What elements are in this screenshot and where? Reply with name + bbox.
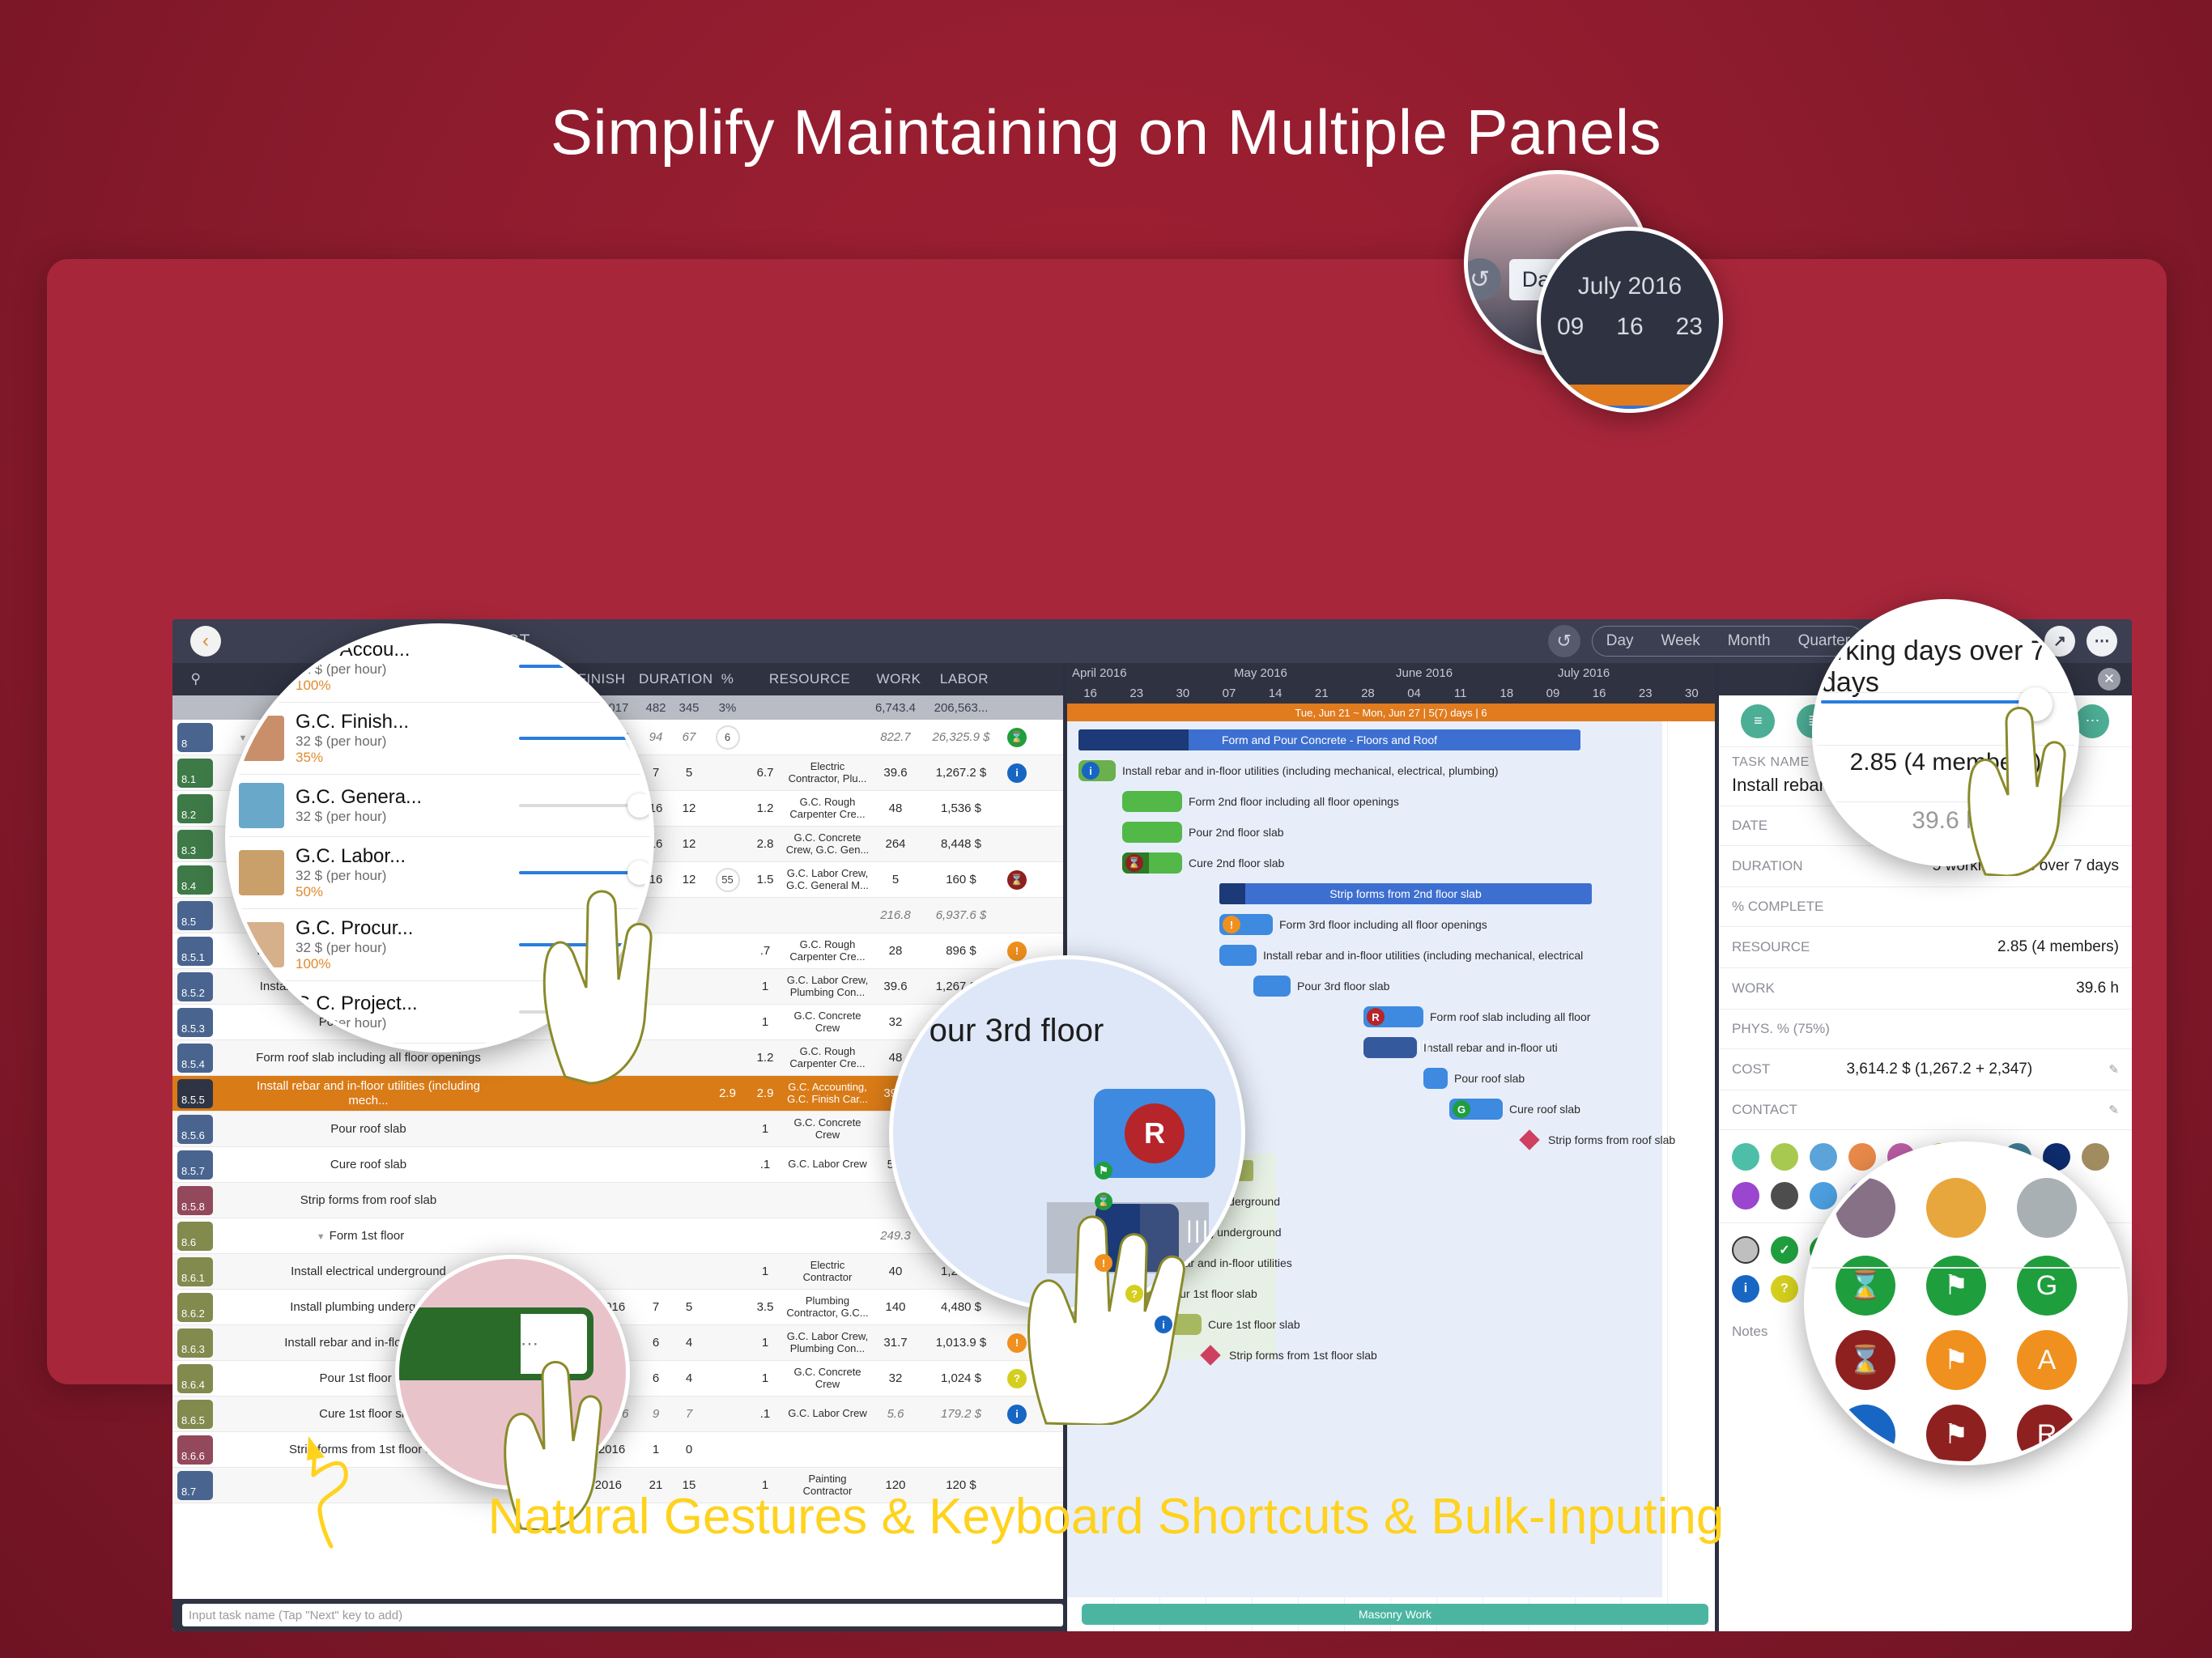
row-id-cell: 8.6.3 bbox=[172, 1329, 219, 1358]
row-resource[interactable]: G.C. Concrete Crew bbox=[781, 1010, 870, 1035]
avatar bbox=[239, 922, 284, 967]
letter-r-icon[interactable]: R bbox=[2017, 1405, 2077, 1465]
new-task-input[interactable]: Input task name (Tap "Next" key to add) bbox=[182, 1604, 1063, 1626]
exclaim-icon[interactable]: ! bbox=[1223, 916, 1240, 933]
resource-name: G.C. Genera... bbox=[296, 786, 422, 809]
resource-rate: 32 $ (per hour) bbox=[296, 940, 413, 956]
gantt-bar-row[interactable]: Strip forms from 2nd floor slab bbox=[1219, 882, 1592, 906]
gantt-bar[interactable]: ! bbox=[1219, 914, 1273, 935]
gantt-bar-row[interactable]: Pour roof slab bbox=[1423, 1066, 1525, 1090]
gantt-day-label: 14 bbox=[1253, 687, 1299, 700]
gantt-day-label: 23 bbox=[1623, 687, 1669, 700]
gantt-bar-row[interactable]: Strip forms from roof slab bbox=[1522, 1128, 1675, 1152]
resource-rate: 32 $ (per hour) bbox=[296, 661, 410, 678]
row-duration[interactable]: 7 bbox=[639, 1300, 673, 1314]
detail-field-label: % COMPLETE bbox=[1732, 899, 1823, 915]
resource-name: G.C. Project... bbox=[296, 993, 418, 1015]
question-icon[interactable]: ? bbox=[1007, 1369, 1027, 1388]
info-icon[interactable]: i bbox=[1732, 1275, 1759, 1303]
gantt-day-label: 09 bbox=[1529, 687, 1576, 700]
row-duration[interactable]: 6 bbox=[639, 1336, 673, 1350]
resource-percent: 100% bbox=[296, 678, 410, 694]
gantt-day-label: 16 bbox=[1576, 687, 1623, 700]
gantt-day-label: 04 bbox=[1391, 687, 1437, 700]
detail-field-label: DURATION bbox=[1732, 858, 1803, 874]
row-resource[interactable]: G.C. Labor Crew, Plumbing Con... bbox=[781, 975, 870, 999]
color-swatch[interactable] bbox=[1771, 1182, 1798, 1209]
detail-field-value[interactable]: 2.85 (4 members) bbox=[1997, 938, 2119, 956]
edit-pencil-icon[interactable]: ✎ bbox=[2108, 1062, 2119, 1077]
row-duration[interactable]: 9 bbox=[639, 1407, 673, 1421]
gantt-bar-label: Pour roof slab bbox=[1454, 1072, 1525, 1085]
col-resource[interactable]: RESOURCE bbox=[750, 671, 870, 687]
color-swatch[interactable] bbox=[1771, 1143, 1798, 1171]
slider-thumb[interactable] bbox=[627, 933, 652, 957]
gantt-month-label: May 2016 bbox=[1229, 666, 1391, 680]
gantt-bar-row[interactable]: Form 2nd floor including all floor openi… bbox=[1122, 789, 1399, 814]
resource-percent: 100% bbox=[296, 956, 413, 972]
gantt-bar[interactable]: G bbox=[1449, 1099, 1503, 1120]
swatch-amber[interactable] bbox=[1926, 1178, 1986, 1238]
gantt-bar-row[interactable]: Form and Pour Concrete - Floors and Roof bbox=[1078, 728, 1580, 752]
lens-resource-value: 2.85 (4 members) bbox=[1816, 749, 2075, 776]
slider-thumb[interactable] bbox=[627, 654, 652, 678]
gantt-bar[interactable] bbox=[1253, 976, 1291, 997]
gantt-month-label: July 2016 bbox=[1553, 666, 1715, 680]
gantt-selection-info: Tue, Jun 21 ~ Mon, Jun 27 | 5(7) days | … bbox=[1067, 704, 1715, 721]
row-resource-units[interactable]: 1 bbox=[750, 1336, 781, 1350]
empty-circle-icon[interactable] bbox=[1732, 1236, 1759, 1264]
resource-name: G.C. Accou... bbox=[296, 639, 410, 661]
row-wbs-badge: 8.1 bbox=[177, 759, 213, 788]
resource-rate: 32 $ (per hour) bbox=[296, 1015, 418, 1031]
undo-icon: ↺ bbox=[1557, 631, 1572, 652]
row-wbs-badge: 8.6.2 bbox=[177, 1293, 213, 1322]
milestone-icon[interactable] bbox=[1519, 1129, 1539, 1150]
row-labor[interactable]: 896 $ bbox=[928, 944, 1001, 958]
row-status-cell[interactable]: ? bbox=[1001, 1369, 1033, 1388]
flag-red-icon[interactable]: ⚑ bbox=[1926, 1405, 1986, 1465]
gantt-bar-label: Cure 1st floor slab bbox=[1208, 1318, 1300, 1331]
row-wbs-badge: 8.5.1 bbox=[177, 937, 213, 966]
row-resource-units[interactable]: 1 bbox=[750, 980, 781, 993]
row-duration2[interactable]: 12 bbox=[673, 801, 705, 815]
row-wbs-badge: 8 bbox=[177, 723, 213, 752]
gantt-day-label: 30 bbox=[1669, 687, 1715, 700]
gantt-bar[interactable]: i bbox=[1151, 1314, 1202, 1335]
row-resource[interactable]: Electric Contractor, Plu... bbox=[781, 761, 870, 785]
color-swatch[interactable] bbox=[1732, 1182, 1759, 1209]
question-icon[interactable]: ? bbox=[1125, 1285, 1143, 1303]
row-work[interactable]: 28 bbox=[870, 944, 928, 958]
hourglass-green-icon[interactable]: ⌛ bbox=[1836, 1256, 1895, 1316]
row-wbs-badge: 8.6.6 bbox=[177, 1435, 213, 1465]
exclaim-icon[interactable]: ! bbox=[1007, 942, 1027, 961]
lens-calendar: July 2016 09 16 23 bbox=[1537, 227, 1723, 413]
gantt-bar-row[interactable]: Pour 2nd floor slab bbox=[1122, 820, 1284, 844]
gantt-bar-row[interactable]: Pour 3rd floor slab bbox=[1253, 974, 1389, 998]
letter-G-icon[interactable]: G bbox=[1453, 1100, 1470, 1118]
col-work[interactable]: WORK bbox=[870, 671, 928, 687]
gantt-bar[interactable] bbox=[1423, 1068, 1448, 1089]
row-status-cell[interactable]: ⌛ bbox=[1001, 870, 1033, 890]
row-duration2[interactable]: 5 bbox=[673, 766, 705, 780]
slider-thumb[interactable] bbox=[627, 726, 652, 750]
row-labor[interactable]: 1,024 $ bbox=[928, 1371, 1001, 1385]
info-icon[interactable]: i bbox=[1007, 1405, 1027, 1424]
letter-R-icon[interactable]: R bbox=[1367, 1008, 1385, 1026]
gantt-bar[interactable]: i bbox=[1078, 760, 1116, 781]
edit-pencil-icon[interactable]: ✎ bbox=[2108, 1103, 2119, 1117]
gantt-bar-label: Pour 2nd floor slab bbox=[1189, 826, 1284, 839]
scale-option-month[interactable]: Month bbox=[1714, 626, 1784, 657]
lens-input-bar: ⋯ bbox=[395, 1255, 630, 1490]
row-id-cell: 8.5.6 bbox=[172, 1115, 219, 1144]
gantt-bar[interactable]: R bbox=[1363, 1006, 1423, 1027]
row-resource-units[interactable]: .1 bbox=[750, 1158, 781, 1171]
row-resource-units[interactable]: .1 bbox=[750, 1407, 781, 1421]
resource-name: G.C. Labor... bbox=[296, 845, 406, 868]
row-work[interactable]: 822.7 bbox=[870, 730, 928, 744]
check-icon[interactable]: ✓ bbox=[1771, 1236, 1798, 1264]
gantt-bar[interactable]: ⌛ bbox=[1122, 852, 1182, 874]
col-labor[interactable]: LABOR bbox=[928, 671, 1001, 687]
row-resource[interactable]: G.C. Concrete Crew bbox=[781, 1367, 870, 1391]
more-icon[interactable]: ⋯ bbox=[521, 1333, 542, 1354]
page-title: Simplify Maintaining on Multiple Panels bbox=[0, 96, 2212, 169]
resource-rate: 32 $ (per hour) bbox=[296, 809, 422, 825]
detail-field-row[interactable]: RESOURCE2.85 (4 members) bbox=[1719, 927, 2132, 968]
gantt-bar[interactable]: ||| bbox=[1363, 1037, 1417, 1058]
row-task-name[interactable]: Pour roof slab bbox=[219, 1122, 493, 1136]
detail-field-label: DATE bbox=[1732, 818, 1767, 834]
lens-resource-list: G.C. Accou...32 $ (per hour)100%G.C. Fin… bbox=[225, 623, 654, 1052]
row-work[interactable]: 39.6 bbox=[870, 766, 928, 780]
row-labor[interactable]: 8,448 $ bbox=[928, 837, 1001, 851]
row-resource-units[interactable]: 3.5 bbox=[750, 1300, 781, 1314]
row-id-cell: 8.5.4 bbox=[172, 1044, 219, 1073]
row-wbs-badge: 8.5.8 bbox=[177, 1186, 213, 1215]
row-id-cell: 8.5.7 bbox=[172, 1150, 219, 1180]
gantt-bar-label: Strip forms from 2nd floor slab bbox=[1219, 887, 1592, 900]
gantt-bar[interactable]: Form and Pour Concrete - Floors and Roof bbox=[1078, 729, 1580, 750]
row-resource-units[interactable]: 1 bbox=[750, 1371, 781, 1385]
row-task-name[interactable]: ▼Form 1st floor bbox=[219, 1229, 493, 1243]
milestone-icon[interactable] bbox=[1200, 1345, 1220, 1365]
gantt-bar-row[interactable]: GCure roof slab bbox=[1449, 1097, 1580, 1121]
row-status-cell[interactable]: ! bbox=[1001, 1333, 1033, 1353]
gantt-day-label: 23 bbox=[1113, 687, 1159, 700]
gantt-bar-label: Cure roof slab bbox=[1509, 1103, 1580, 1116]
flag-green-icon[interactable]: ⚑ bbox=[1926, 1256, 1986, 1316]
row-work[interactable]: 48 bbox=[870, 801, 928, 815]
lens-calendar-day-2: 16 bbox=[1616, 313, 1643, 341]
row-labor[interactable]: 26,325.9 $ bbox=[928, 730, 1001, 744]
exclaim-icon[interactable]: ! bbox=[1095, 1254, 1112, 1272]
row-id-cell: 8.5.3 bbox=[172, 1008, 219, 1037]
gantt-bar-label: Pour 3rd floor slab bbox=[1297, 980, 1389, 993]
row-resource-units[interactable]: .7 bbox=[750, 944, 781, 958]
flag-orange-icon[interactable]: ⚑ bbox=[1926, 1330, 1986, 1390]
resource-list-item[interactable]: G.C. Genera...32 $ (per hour) bbox=[229, 775, 650, 837]
row-resource[interactable]: G.C. Rough Carpenter Cre... bbox=[781, 1046, 870, 1070]
row-resource[interactable]: G.C. Rough Carpenter Cre... bbox=[781, 939, 870, 963]
row-wbs-badge: 8.5.4 bbox=[177, 1044, 213, 1073]
lens-calendar-day-1: 09 bbox=[1557, 313, 1584, 341]
resource-text: G.C. Procur...32 $ (per hour)100% bbox=[296, 917, 413, 972]
resource-name: G.C. Finish... bbox=[296, 711, 409, 733]
scale-option-week[interactable]: Week bbox=[1648, 626, 1714, 657]
row-labor[interactable]: 179.2 $ bbox=[928, 1407, 1001, 1421]
row-task-name[interactable]: Cure roof slab bbox=[219, 1158, 493, 1171]
lens-calendar-month: July 2016 bbox=[1541, 231, 1719, 300]
row-id-cell: 8.1 bbox=[172, 759, 219, 788]
avatar bbox=[239, 716, 284, 761]
hourglass-icon[interactable]: ⌛ bbox=[1095, 1192, 1112, 1210]
search-icon[interactable]: ⚲ bbox=[172, 671, 219, 687]
row-duration2[interactable]: 4 bbox=[673, 1371, 705, 1385]
row-percent[interactable]: 55 bbox=[705, 868, 750, 892]
detail-field-label: COST bbox=[1732, 1061, 1770, 1078]
resource-list-item[interactable]: G.C. Project...32 $ (per hour) bbox=[229, 981, 650, 1044]
slider-thumb[interactable] bbox=[2018, 687, 2052, 721]
resource-slider[interactable] bbox=[519, 665, 640, 668]
detail-field-value[interactable]: 39.6 h bbox=[2076, 980, 2119, 997]
row-labor[interactable]: 1,267.2 $ bbox=[928, 766, 1001, 780]
row-wbs-badge: 8.5 bbox=[177, 901, 213, 930]
row-work[interactable]: 264 bbox=[870, 837, 928, 851]
gantt-day-label: 21 bbox=[1299, 687, 1345, 700]
row-resource[interactable]: G.C. Labor Crew, G.C. General M... bbox=[781, 868, 870, 892]
col-percent[interactable]: % bbox=[705, 671, 750, 687]
undo-icon[interactable]: ↺ bbox=[1464, 258, 1501, 300]
row-wbs-badge: 8.4 bbox=[177, 865, 213, 895]
row-work[interactable]: 31.7 bbox=[870, 1336, 928, 1350]
gantt-bar-label: Form and Pour Concrete - Floors and Roof bbox=[1078, 733, 1580, 746]
gantt-bar-label: Form roof slab including all floor bbox=[1430, 1010, 1590, 1023]
hourglass-icon[interactable]: ⌛ bbox=[1007, 870, 1027, 890]
gantt-bar-row[interactable]: RForm roof slab including all floor bbox=[1363, 1005, 1590, 1029]
resource-list-item[interactable]: G.C. Accou...32 $ (per hour)100% bbox=[229, 631, 650, 703]
detail-field-label: PHYS. % (75%) bbox=[1732, 1021, 1830, 1037]
row-wbs-badge: 8.5.6 bbox=[177, 1115, 213, 1144]
gantt-bar-row[interactable]: Install rebar and in-floor utilities (in… bbox=[1219, 943, 1583, 967]
gantt-month-label: June 2016 bbox=[1391, 666, 1553, 680]
row-id-cell: 8.5.2 bbox=[172, 972, 219, 1001]
summary-work: 6,743.4 bbox=[870, 701, 928, 715]
row-status-cell[interactable]: i bbox=[1001, 1405, 1033, 1424]
summary-dur2: 345 bbox=[673, 701, 705, 715]
row-wbs-badge: 8.5.2 bbox=[177, 972, 213, 1001]
gantt-bar-row[interactable]: iInstall rebar and in-floor utilities (i… bbox=[1078, 759, 1499, 783]
hourglass-icon[interactable]: ⌛ bbox=[1007, 728, 1027, 747]
resource-percent: 50% bbox=[296, 884, 406, 900]
row-resource-units[interactable]: 1 bbox=[750, 1015, 781, 1029]
gantt-bar-label: Form 3rd floor including all floor openi… bbox=[1279, 918, 1487, 931]
row-resource-units[interactable]: 2.8 bbox=[750, 837, 781, 851]
row-resource[interactable]: Plumbing Contractor, G.C... bbox=[781, 1295, 870, 1320]
letter-a-icon[interactable]: A bbox=[2017, 1330, 2077, 1390]
row-wbs-badge: 8.6.1 bbox=[177, 1257, 213, 1286]
resource-rate: 32 $ (per hour) bbox=[296, 868, 406, 884]
slider-thumb[interactable] bbox=[627, 861, 652, 885]
gantt-bar-row[interactable]: ⌛Cure 2nd floor slab bbox=[1122, 851, 1284, 875]
more-icon[interactable]: ⋯ bbox=[2087, 626, 2117, 657]
resource-text: G.C. Genera...32 $ (per hour) bbox=[296, 786, 422, 825]
hourglass-red-icon[interactable]: ⌛ bbox=[1836, 1330, 1895, 1390]
detail-field-row[interactable]: % COMPLETE bbox=[1719, 887, 2132, 927]
row-resource-units[interactable]: 1 bbox=[750, 1265, 781, 1278]
detail-field-row[interactable]: WORK39.6 h bbox=[1719, 968, 2132, 1010]
row-wbs-badge: 8.6.4 bbox=[177, 1364, 213, 1393]
resource-text: G.C. Project...32 $ (per hour) bbox=[296, 993, 418, 1031]
row-resource-units[interactable]: 1 bbox=[750, 1122, 781, 1136]
detail-field-value[interactable]: 3,614.2 $ (1,267.2 + 2,347) bbox=[1846, 1061, 2032, 1078]
row-resource-units[interactable]: 1.2 bbox=[750, 1051, 781, 1065]
resource-slider[interactable] bbox=[519, 737, 640, 740]
gantt-bar-label: Install rebar and in-floor utilities (in… bbox=[1122, 764, 1499, 777]
exclaim-icon[interactable]: ! bbox=[1007, 1333, 1027, 1353]
page-caption: Natural Gestures & Keyboard Shortcuts & … bbox=[0, 1488, 2212, 1545]
task-input-bar: Input task name (Tap "Next" key to add) bbox=[172, 1599, 1063, 1631]
question-icon[interactable]: ? bbox=[1771, 1275, 1798, 1303]
detail-field-row[interactable]: PHYS. % (75%) bbox=[1719, 1010, 2132, 1049]
gantt-day-label: 18 bbox=[1483, 687, 1529, 700]
row-labor[interactable]: 160 $ bbox=[928, 873, 1001, 886]
scale-option-day[interactable]: Day bbox=[1593, 626, 1648, 657]
resource-slider[interactable] bbox=[519, 871, 640, 874]
row-id-cell: 8.5.8 bbox=[172, 1186, 219, 1215]
resource-list-item[interactable]: G.C. Labor...32 $ (per hour)50% bbox=[229, 837, 650, 909]
row-resource-units[interactable]: 1.5 bbox=[750, 873, 781, 886]
gantt-months-row: April 2016May 2016June 2016July 2016 bbox=[1067, 663, 1715, 682]
row-percent[interactable]: 6 bbox=[705, 725, 750, 750]
row-resource[interactable]: G.C. Labor Crew bbox=[781, 1408, 870, 1420]
row-resource-units[interactable]: 2.9 bbox=[750, 1086, 781, 1100]
detail-field-row[interactable]: CONTACT✎ bbox=[1719, 1090, 2132, 1130]
drag-handle-icon[interactable]: ||| bbox=[1418, 1039, 1430, 1052]
row-duration2[interactable]: 67 bbox=[673, 730, 705, 744]
row-status-cell[interactable]: i bbox=[1001, 763, 1033, 783]
swatch-grey[interactable] bbox=[2017, 1178, 2077, 1238]
row-resource[interactable]: G.C. Rough Carpenter Cre... bbox=[781, 797, 870, 821]
gantt-bar-row[interactable]: iCure 1st floor slab bbox=[1151, 1312, 1300, 1337]
more-icon[interactable]: ⋯ bbox=[2075, 704, 2109, 738]
device-frame: ‹ PROJECT ↺ Day Week Month Quarter ☰ ÷ 🔓… bbox=[47, 259, 2167, 1384]
swatch-mauve[interactable] bbox=[1836, 1178, 1895, 1238]
lens-icon-palette: ⌛ ⚑ G ⌛ ⚑ A ⚑ R bbox=[1804, 1141, 2128, 1465]
row-resource[interactable]: G.C. Accounting, G.C. Finish Car... bbox=[781, 1082, 870, 1106]
row-duration2[interactable]: 12 bbox=[673, 837, 705, 851]
row-resource[interactable]: G.C. Concrete Crew, G.C. Gen... bbox=[781, 832, 870, 857]
row-labor[interactable]: 1,013.9 $ bbox=[928, 1336, 1001, 1350]
slider-thumb[interactable] bbox=[627, 1000, 652, 1024]
row-task-name[interactable]: Install rebar and in-floor utilities (in… bbox=[219, 1079, 493, 1107]
resource-slider[interactable] bbox=[519, 1010, 640, 1014]
row-status-cell[interactable]: ! bbox=[1001, 942, 1033, 961]
gantt-footer-bar[interactable]: Masonry Work bbox=[1082, 1604, 1708, 1625]
gantt-bar-label: Install rebar and in-floor utilities (in… bbox=[1263, 949, 1583, 962]
row-id-cell: 8.5.1 bbox=[172, 937, 219, 966]
slider-thumb[interactable] bbox=[627, 793, 652, 818]
lens-calendar-day-3: 23 bbox=[1676, 313, 1703, 341]
row-duration2[interactable]: 4 bbox=[673, 1336, 705, 1350]
gantt-day-label: 11 bbox=[1437, 687, 1483, 700]
detail-field-row[interactable]: COST3,614.2 $ (1,267.2 + 2,347)✎ bbox=[1719, 1049, 2132, 1090]
letter-g-icon[interactable]: G bbox=[2017, 1256, 2077, 1316]
disclosure-caret-icon[interactable]: ▼ bbox=[317, 1232, 325, 1242]
row-work[interactable]: 5.6 bbox=[870, 1407, 928, 1421]
gantt-bar-label: Cure 2nd floor slab bbox=[1189, 857, 1284, 869]
summary-pct: 3% bbox=[705, 701, 750, 715]
row-resource[interactable]: G.C. Labor Crew, Plumbing Con... bbox=[781, 1331, 870, 1355]
row-resource-units[interactable]: 6.7 bbox=[750, 766, 781, 780]
resource-list-item[interactable]: G.C. Procur...32 $ (per hour)100% bbox=[229, 909, 650, 981]
gantt-days-row: 1623300714212804111809162330 bbox=[1067, 682, 1715, 704]
row-duration[interactable]: 6 bbox=[639, 1371, 673, 1385]
row-task-name[interactable]: Strip forms from roof slab bbox=[219, 1193, 493, 1207]
resource-text: G.C. Finish...32 $ (per hour)35% bbox=[296, 711, 409, 766]
row-resource-units[interactable]: 1.2 bbox=[750, 801, 781, 815]
flag-icon[interactable]: ⚑ bbox=[1095, 1162, 1112, 1180]
row-duration2[interactable]: 5 bbox=[673, 1300, 705, 1314]
info-icon[interactable]: i bbox=[1082, 762, 1100, 780]
resource-slider[interactable] bbox=[519, 804, 640, 807]
undo-button[interactable]: ↺ bbox=[1548, 625, 1580, 657]
row-resource[interactable]: G.C. Concrete Crew bbox=[781, 1117, 870, 1141]
row-resource[interactable]: Electric Contractor bbox=[781, 1260, 870, 1284]
gantt-bar-row[interactable]: !Form 3rd floor including all floor open… bbox=[1219, 912, 1487, 937]
row-status-cell[interactable]: ⌛ bbox=[1001, 728, 1033, 747]
row-work[interactable]: 216.8 bbox=[870, 908, 928, 922]
row-labor[interactable]: 1,536 $ bbox=[928, 801, 1001, 815]
info-icon[interactable]: i bbox=[1155, 1316, 1172, 1333]
row-wbs-badge: 8.5.3 bbox=[177, 1008, 213, 1037]
gantt-bar-label: Strip forms from 1st floor slab bbox=[1229, 1349, 1377, 1362]
row-wbs-badge: 8.6 bbox=[177, 1222, 213, 1251]
resource-slider[interactable] bbox=[519, 943, 640, 946]
gantt-bar-row[interactable]: |||Install rebar and in-floor uti bbox=[1363, 1035, 1558, 1060]
row-id-cell: 8.6.2 bbox=[172, 1293, 219, 1322]
row-percent[interactable]: 2.9 bbox=[705, 1086, 750, 1100]
gantt-month-label: April 2016 bbox=[1067, 666, 1229, 680]
indent-left-icon[interactable]: ≡ bbox=[1741, 704, 1775, 738]
hourglass-icon[interactable]: ⌛ bbox=[1125, 854, 1143, 872]
close-icon[interactable]: ✕ bbox=[2098, 668, 2121, 691]
gantt-bar-row[interactable]: Strip forms from 1st floor slab bbox=[1203, 1343, 1377, 1367]
resource-percent: 35% bbox=[296, 750, 409, 766]
row-labor[interactable]: 6,937.6 $ bbox=[928, 908, 1001, 922]
row-wbs-badge: 8.3 bbox=[177, 830, 213, 859]
row-task-name[interactable]: Form roof slab including all floor openi… bbox=[219, 1051, 493, 1065]
row-work[interactable]: 5 bbox=[870, 873, 928, 886]
detail-field-label: WORK bbox=[1732, 980, 1775, 997]
info-icon[interactable]: i bbox=[1007, 763, 1027, 783]
row-work[interactable]: 32 bbox=[870, 1371, 928, 1385]
gantt-bar[interactable] bbox=[1122, 791, 1182, 812]
row-duration2[interactable]: 7 bbox=[673, 1407, 705, 1421]
drag-handle-icon[interactable]: ||| bbox=[1186, 1217, 1210, 1244]
gantt-bar[interactable]: Strip forms from 2nd floor slab bbox=[1219, 883, 1592, 904]
info-icon-partial[interactable] bbox=[1836, 1405, 1895, 1465]
resource-list-item[interactable]: G.C. Finish...32 $ (per hour)35% bbox=[229, 703, 650, 775]
color-swatch[interactable] bbox=[1732, 1143, 1759, 1171]
row-duration2[interactable]: 12 bbox=[673, 873, 705, 886]
row-duration[interactable]: 1 bbox=[639, 1443, 673, 1456]
gantt-bar[interactable] bbox=[1122, 822, 1182, 843]
row-duration2[interactable]: 0 bbox=[673, 1443, 705, 1456]
row-resource[interactable]: G.C. Labor Crew bbox=[781, 1158, 870, 1171]
